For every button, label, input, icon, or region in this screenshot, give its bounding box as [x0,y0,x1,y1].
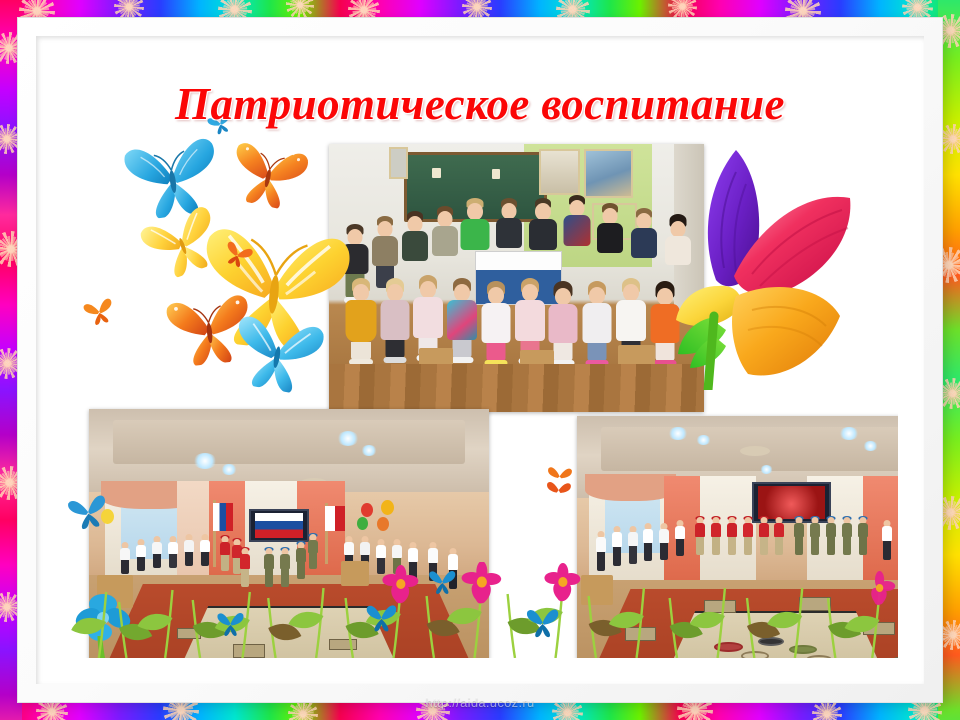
slide-canvas: Патриотическое воспитание [62,62,898,658]
group-photo-classroom[interactable] [329,144,704,412]
page-title: Патриотическое воспитание [62,78,898,130]
butterfly-orange-large-icon [224,133,314,214]
grass-and-flowers-strip [62,562,898,658]
picture-frame: Патриотическое воспитание [18,18,942,702]
slide-root: Патриотическое воспитание [0,0,960,720]
butterfly-blue-small-icon [65,491,110,531]
frame-bevel: Патриотическое воспитание [36,36,924,684]
butterfly-blue-small-icon [226,305,330,398]
rainbow-flower-icon [674,140,889,390]
butterfly-orange-tiny-icon [544,461,573,509]
watermark: http://aida.ucoz.ru [425,695,534,710]
butterfly-orange-tiny-icon [81,295,116,327]
